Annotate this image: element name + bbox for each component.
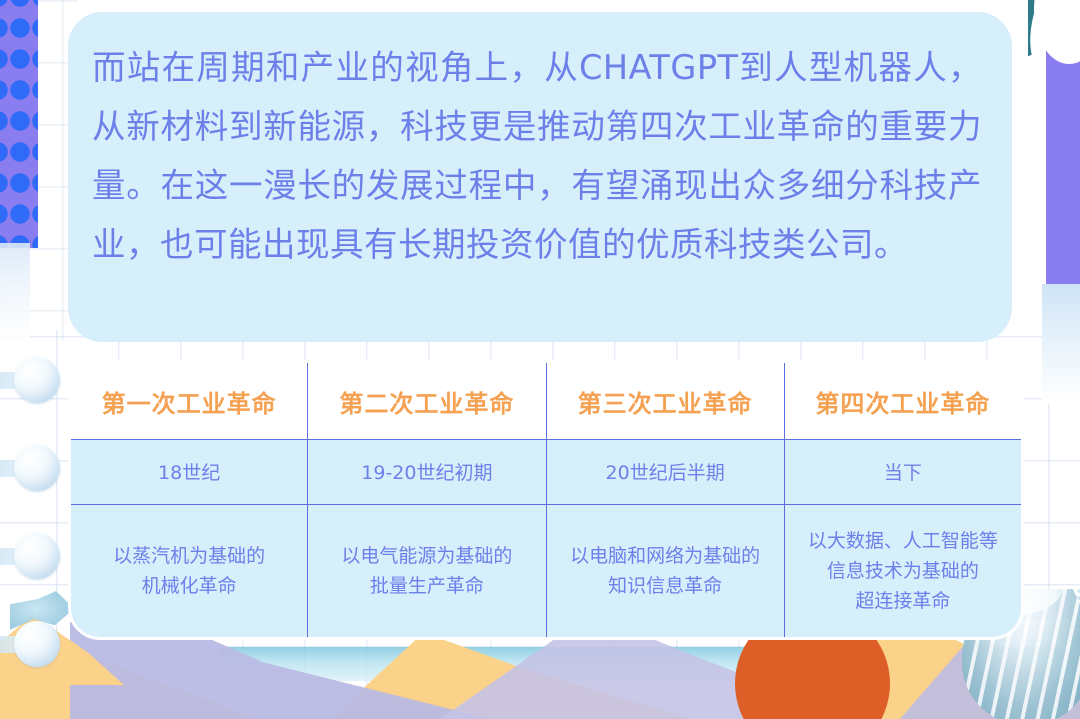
left-dot-panel xyxy=(0,0,38,248)
table-row-era: 18世纪 19-20世纪初期 20世纪后半期 当下 xyxy=(70,440,1023,504)
binding-ring xyxy=(14,533,60,579)
infographic-canvas: 而站在周期和产业的视角上，从CHATGPT到人型机器人，从新材料到新能源，科技更… xyxy=(0,0,1080,719)
table-header-row: 第一次工业革命 第二次工业革命 第三次工业革命 第四次工业革命 xyxy=(70,362,1023,440)
industrial-revolutions-table: 第一次工业革命 第二次工业革命 第三次工业革命 第四次工业革命 18世纪 19-… xyxy=(68,360,1024,640)
table-cell-era-3: 20世纪后半期 xyxy=(546,440,784,504)
quote-paragraph: 而站在周期和产业的视角上，从CHATGPT到人型机器人，从新材料到新能源，科技更… xyxy=(92,38,982,274)
binding-ring xyxy=(14,621,60,667)
table-header-cell-1: 第一次工业革命 xyxy=(70,362,308,440)
industrial-revolutions-table-wrapper: 第一次工业革命 第二次工业革命 第三次工业革命 第四次工业革命 18世纪 19-… xyxy=(68,360,1024,640)
table-cell-era-1: 18世纪 xyxy=(70,440,308,504)
table-cell-era-4: 当下 xyxy=(784,440,1022,504)
left-panel-fade xyxy=(0,243,30,341)
right-panel-fade xyxy=(1042,284,1080,404)
table-cell-description-3: 以电脑和网络为基础的 知识信息革命 xyxy=(546,504,784,639)
table-header-cell-4: 第四次工业革命 xyxy=(784,362,1022,440)
table-header-cell-2: 第二次工业革命 xyxy=(308,362,546,440)
table-header-cell-3: 第三次工业革命 xyxy=(546,362,784,440)
table-cell-era-2: 19-20世纪初期 xyxy=(308,440,546,504)
table-cell-description-1: 以蒸汽机为基础的 机械化革命 xyxy=(70,504,308,639)
table-cell-description-4: 以大数据、人工智能等 信息技术为基础的 超连接革命 xyxy=(784,504,1022,639)
table-row-description: 以蒸汽机为基础的 机械化革命 以电气能源为基础的 批量生产革命 以电脑和网络为基… xyxy=(70,504,1023,639)
table-cell-description-2: 以电气能源为基础的 批量生产革命 xyxy=(308,504,546,639)
binding-ring xyxy=(14,357,60,403)
quote-card: 而站在周期和产业的视角上，从CHATGPT到人型机器人，从新材料到新能源，科技更… xyxy=(68,12,1012,342)
teal-swoosh-decoration xyxy=(1028,0,1080,114)
binding-ring xyxy=(14,445,60,491)
